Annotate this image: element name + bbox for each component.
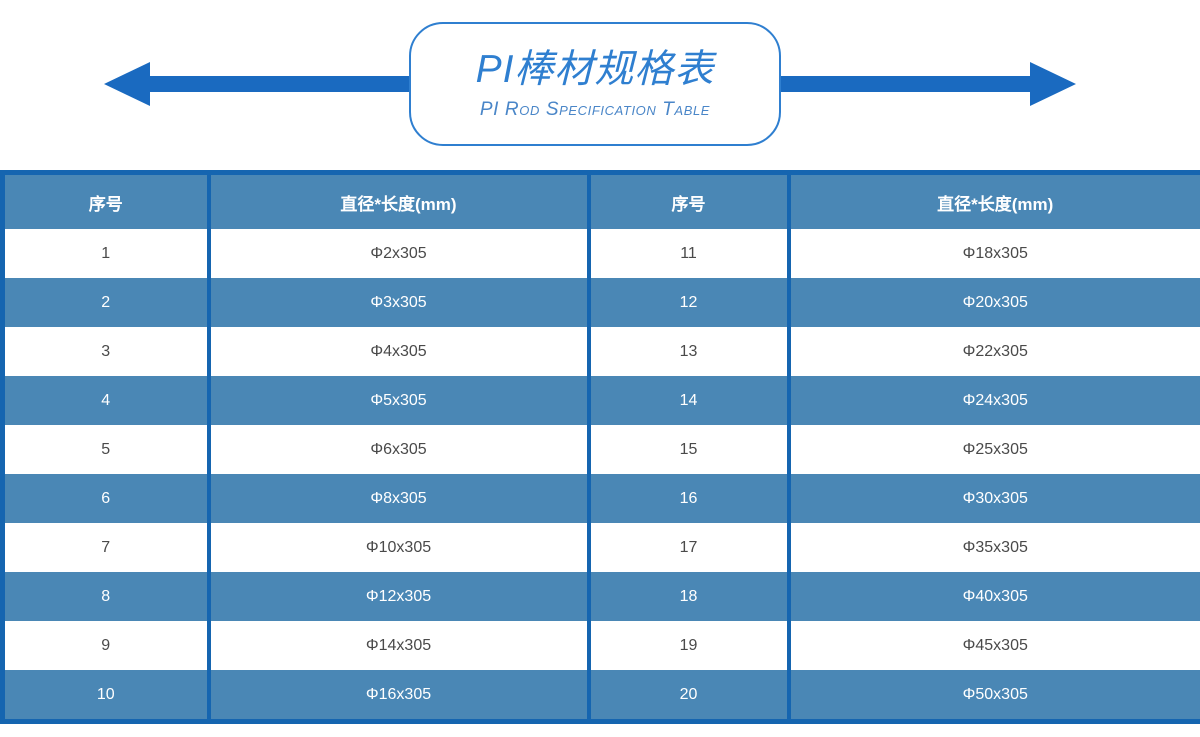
cell-spec-right: Φ35x305 (789, 523, 1200, 572)
page-banner: PI棒材规格表 PI Rod Specification Table (0, 0, 1200, 168)
column-header-no-right: 序号 (589, 173, 789, 230)
table-row: 7Φ10x30517Φ35x305 (3, 523, 1200, 572)
table-row: 9Φ14x30519Φ45x305 (3, 621, 1200, 670)
table-row: 1Φ2x30511Φ18x305 (3, 229, 1200, 278)
cell-spec-right: Φ45x305 (789, 621, 1200, 670)
table-body: 1Φ2x30511Φ18x3052Φ3x30512Φ20x3053Φ4x3051… (3, 229, 1200, 722)
column-header-spec-right: 直径*长度(mm) (789, 173, 1200, 230)
cell-spec-left: Φ5x305 (209, 376, 589, 425)
table-header: 序号 直径*长度(mm) 序号 直径*长度(mm) (3, 173, 1200, 230)
table-row: 3Φ4x30513Φ22x305 (3, 327, 1200, 376)
cell-spec-left: Φ8x305 (209, 474, 589, 523)
cell-no-right: 20 (589, 670, 789, 722)
table-row: 8Φ12x30518Φ40x305 (3, 572, 1200, 621)
cell-spec-right: Φ18x305 (789, 229, 1200, 278)
cell-spec-left: Φ12x305 (209, 572, 589, 621)
cell-no-left: 1 (3, 229, 209, 278)
table-row: 5Φ6x30515Φ25x305 (3, 425, 1200, 474)
cell-spec-right: Φ30x305 (789, 474, 1200, 523)
cell-no-left: 10 (3, 670, 209, 722)
cell-no-left: 3 (3, 327, 209, 376)
table-row: 4Φ5x30514Φ24x305 (3, 376, 1200, 425)
cell-no-left: 2 (3, 278, 209, 327)
cell-no-right: 17 (589, 523, 789, 572)
cell-no-left: 5 (3, 425, 209, 474)
table-row: 2Φ3x30512Φ20x305 (3, 278, 1200, 327)
cell-spec-right: Φ50x305 (789, 670, 1200, 722)
cell-spec-right: Φ22x305 (789, 327, 1200, 376)
cell-spec-left: Φ4x305 (209, 327, 589, 376)
column-header-no-left: 序号 (3, 173, 209, 230)
spec-table: 序号 直径*长度(mm) 序号 直径*长度(mm) 1Φ2x30511Φ18x3… (0, 170, 1200, 724)
cell-no-right: 16 (589, 474, 789, 523)
cell-spec-left: Φ14x305 (209, 621, 589, 670)
cell-spec-left: Φ2x305 (209, 229, 589, 278)
spec-table-container: 序号 直径*长度(mm) 序号 直径*长度(mm) 1Φ2x30511Φ18x3… (0, 170, 1200, 724)
cell-no-left: 4 (3, 376, 209, 425)
cell-spec-left: Φ3x305 (209, 278, 589, 327)
cell-spec-left: Φ16x305 (209, 670, 589, 722)
cell-spec-right: Φ40x305 (789, 572, 1200, 621)
title-plate: PI棒材规格表 PI Rod Specification Table (409, 22, 781, 146)
page-title: PI棒材规格表 (476, 49, 715, 92)
page-subtitle: PI Rod Specification Table (480, 99, 710, 121)
cell-spec-right: Φ24x305 (789, 376, 1200, 425)
cell-spec-right: Φ25x305 (789, 425, 1200, 474)
cell-no-left: 6 (3, 474, 209, 523)
cell-no-left: 7 (3, 523, 209, 572)
cell-no-left: 9 (3, 621, 209, 670)
cell-no-right: 18 (589, 572, 789, 621)
cell-spec-right: Φ20x305 (789, 278, 1200, 327)
cell-spec-left: Φ10x305 (209, 523, 589, 572)
arrow-right-icon (778, 62, 1076, 106)
arrow-left-icon (104, 62, 416, 106)
cell-no-right: 19 (589, 621, 789, 670)
cell-no-right: 13 (589, 327, 789, 376)
column-header-spec-left: 直径*长度(mm) (209, 173, 589, 230)
table-row: 10Φ16x30520Φ50x305 (3, 670, 1200, 722)
cell-no-right: 15 (589, 425, 789, 474)
cell-spec-left: Φ6x305 (209, 425, 589, 474)
cell-no-right: 12 (589, 278, 789, 327)
cell-no-right: 11 (589, 229, 789, 278)
table-header-row: 序号 直径*长度(mm) 序号 直径*长度(mm) (3, 173, 1200, 230)
table-row: 6Φ8x30516Φ30x305 (3, 474, 1200, 523)
cell-no-right: 14 (589, 376, 789, 425)
cell-no-left: 8 (3, 572, 209, 621)
